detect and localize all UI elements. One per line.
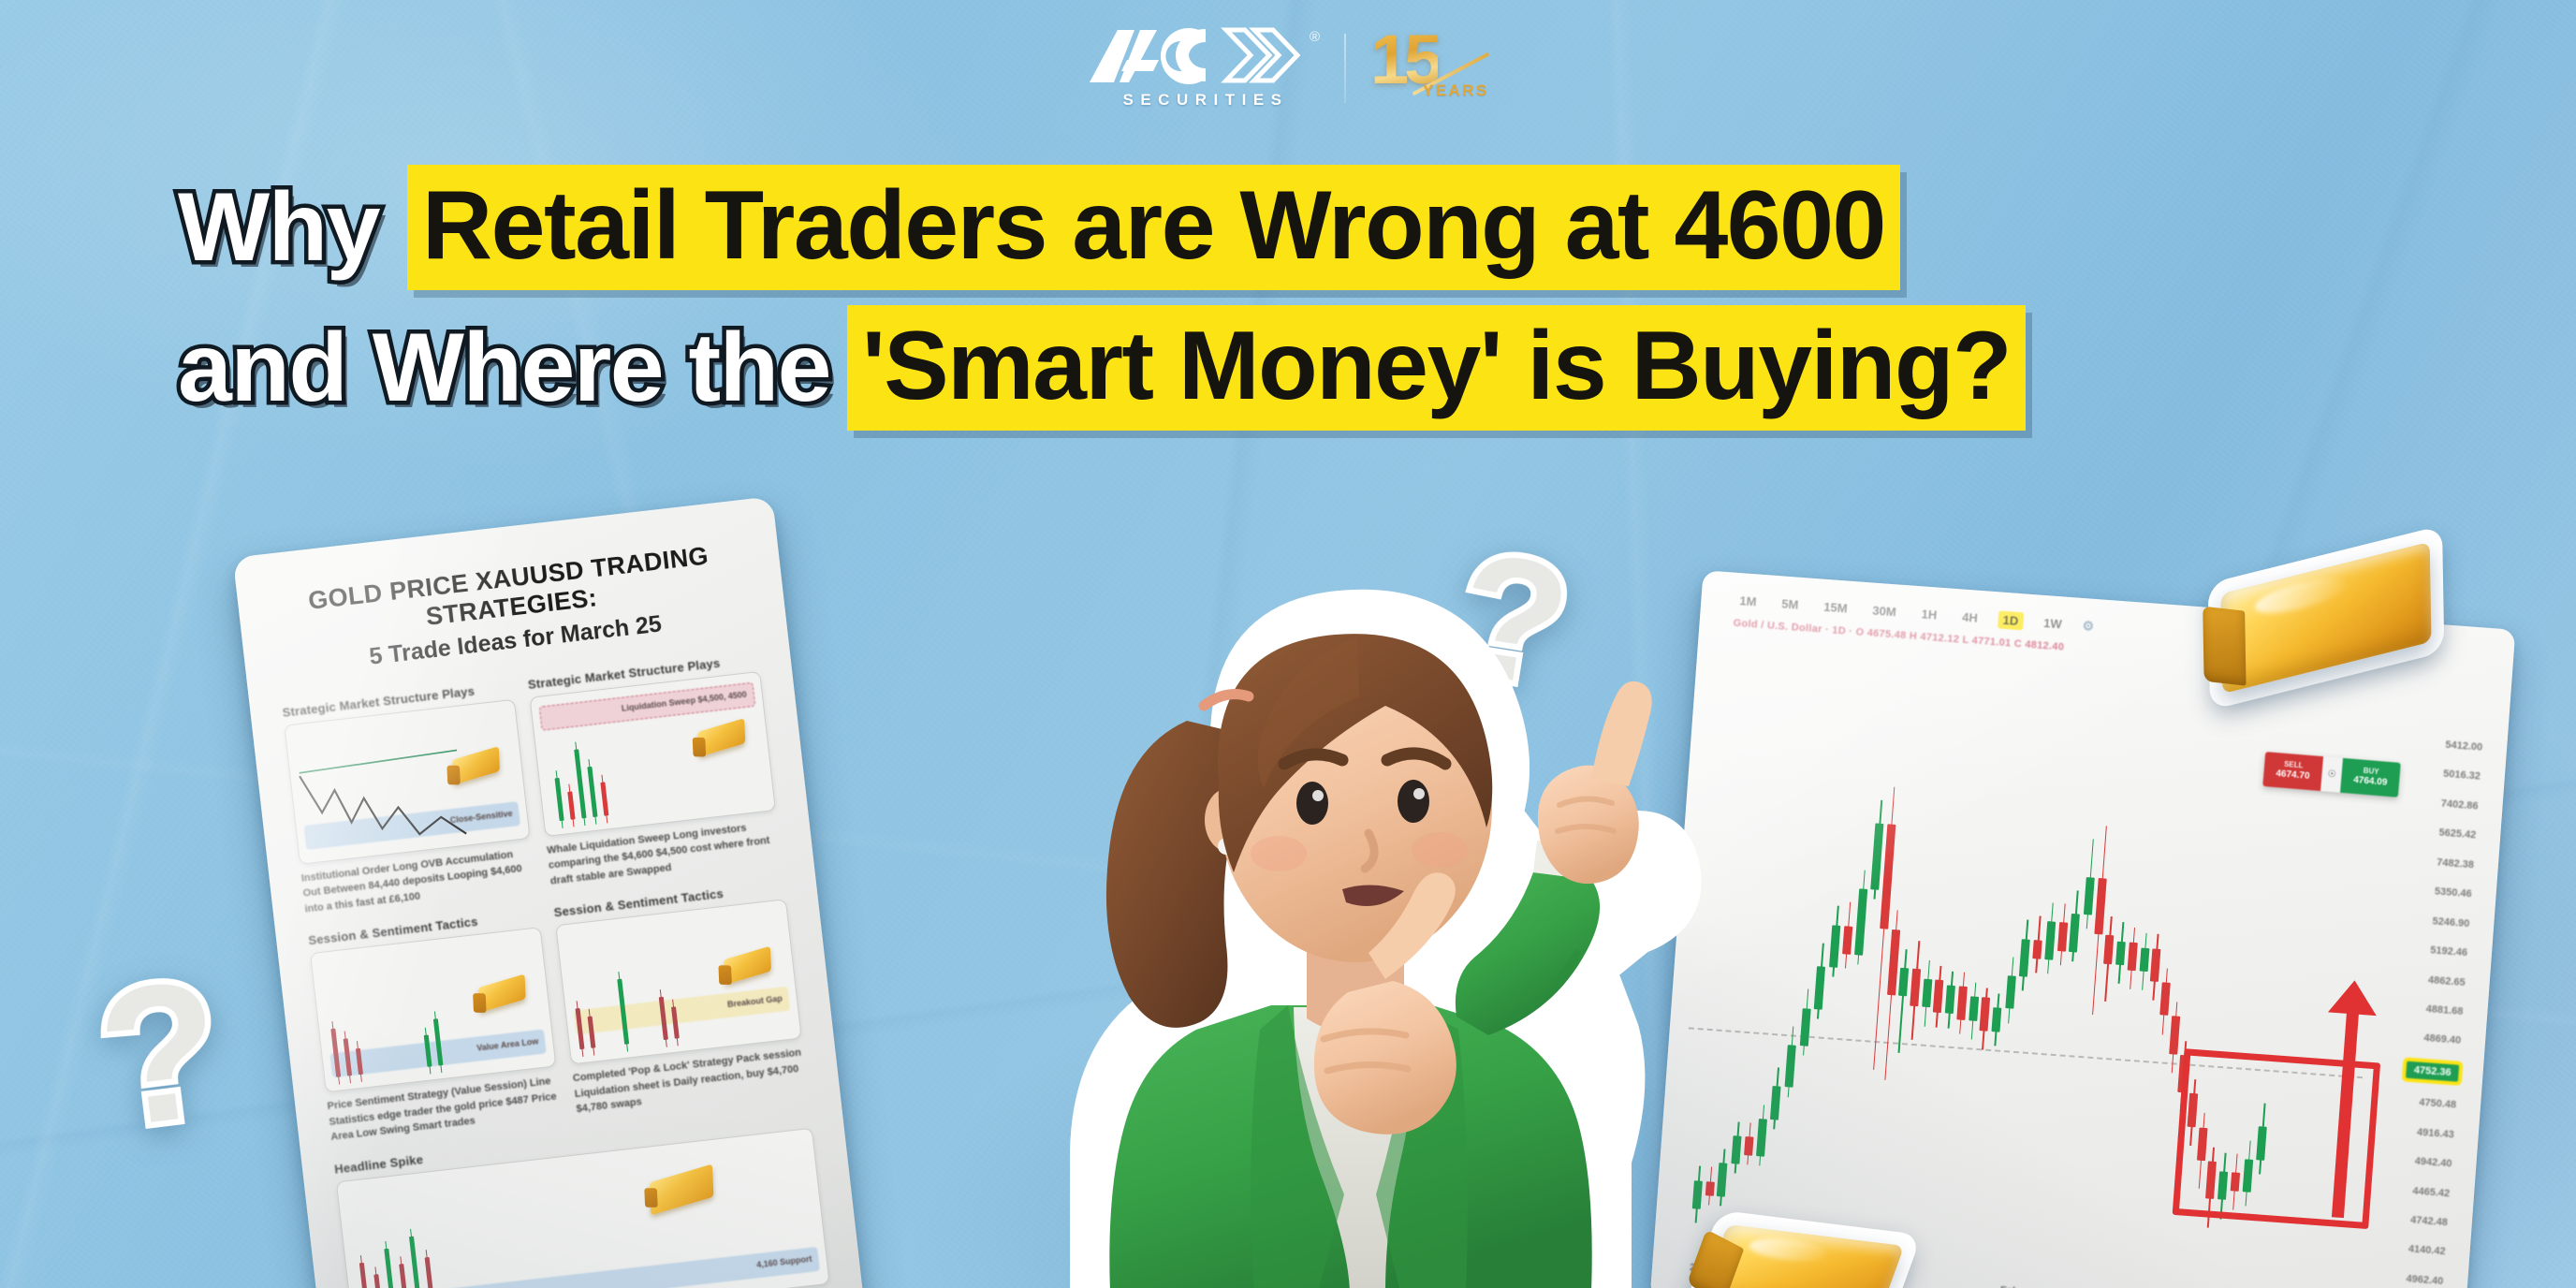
candle-body <box>2094 878 2106 935</box>
document-section: Strategic Market Structure Plays Liquida… <box>527 651 782 889</box>
candle-body <box>1933 980 1944 1014</box>
acy-letters-icon <box>1086 26 1307 84</box>
candlestick <box>2095 1252 2103 1253</box>
acy-logo: ® SECURITIES <box>1086 26 1320 110</box>
candlestick <box>2202 1260 2210 1261</box>
price-tick: 4962.40 <box>2406 1273 2444 1287</box>
candlestick <box>2154 1256 2162 1257</box>
section-band: Breakout Gap <box>574 987 790 1035</box>
candlestick <box>2083 1251 2091 1252</box>
pointing-index-finger <box>1591 681 1652 786</box>
headline-line2-plain: and Where the <box>167 318 842 417</box>
candle-body <box>1910 969 1921 1007</box>
price-tick: 4916.43 <box>2417 1126 2455 1140</box>
candle-body <box>2127 942 2137 971</box>
logo-divider <box>1344 34 1346 103</box>
candle-body <box>1842 926 1852 955</box>
gold-bar-face <box>2203 607 2246 686</box>
line-chart-icon <box>294 740 470 856</box>
candle-body <box>2032 940 2042 959</box>
gold-bar-icon <box>650 1164 714 1215</box>
sell-price-badge[interactable]: SELL 4674.70 <box>2262 752 2323 790</box>
gold-bar-bottom <box>1708 1223 1895 1288</box>
anniversary-badge: 15 YEARS <box>1370 29 1490 108</box>
candle-body <box>2069 914 2080 952</box>
candle-body <box>2057 922 2068 951</box>
section-chart: Liquidation Sweep $4,500, 4500 <box>530 670 776 836</box>
candlestick <box>2166 1257 2174 1258</box>
price-tick: 4465.42 <box>2412 1185 2451 1199</box>
gold-bar-shine <box>1746 1235 1831 1265</box>
candle-body <box>2005 975 2016 1009</box>
price-tick: 4881.68 <box>2425 1003 2464 1017</box>
price-tick: 7402.86 <box>2440 798 2479 812</box>
eye-right <box>1398 780 1429 823</box>
document-section: Session & Sentiment Tactics Breakout Gap… <box>553 880 808 1118</box>
section-band: Liquidation Sweep $4,500, 4500 <box>539 681 755 730</box>
candlestick <box>2142 1255 2150 1256</box>
price-tick: 4862.65 <box>2428 974 2466 988</box>
section-chart: 4,160 Support <box>336 1127 830 1288</box>
candlestick <box>1964 1243 1972 1244</box>
candle-body <box>1956 987 1968 1020</box>
candlestick <box>2225 1262 2233 1263</box>
candle-body <box>1731 1135 1741 1164</box>
eye-left <box>1296 782 1328 825</box>
timeframe-1w[interactable]: 1W <box>2038 614 2067 634</box>
candlestick <box>1976 1243 1984 1244</box>
buy-price-badge[interactable]: BUY 4764.09 <box>2340 758 2401 797</box>
candle-body <box>2019 939 2030 977</box>
candlestick <box>2071 1251 2079 1251</box>
price-tick: 7482.38 <box>2437 856 2475 871</box>
candle-body <box>1829 925 1840 968</box>
spread-indicator: ☉ <box>2320 756 2343 792</box>
registered-mark: ® <box>1310 30 1320 44</box>
price-tick: 5016.32 <box>2443 768 2481 783</box>
candlestick <box>2012 1246 2020 1247</box>
gold-bar-icon <box>478 974 526 1014</box>
timeframe-4h[interactable]: 4H <box>1956 607 1983 627</box>
candle-body <box>1854 888 1867 955</box>
candle-body <box>2044 921 2056 959</box>
current-price-label: 4752.36 <box>2406 1061 2459 1081</box>
candle-body <box>1770 1087 1781 1120</box>
candle-body <box>2115 941 2126 965</box>
price-tick: 4750.48 <box>2419 1097 2457 1111</box>
section-chart: Value Area Low <box>310 927 556 1092</box>
trading-chart-panel[interactable]: 1M 5M 15M 30M 1H 4H 1D 1W ⚙ Gold / U.S. … <box>1650 570 2516 1288</box>
candlestick <box>2024 1247 2032 1248</box>
timeframe-15m[interactable]: 15M <box>1819 597 1853 618</box>
headline-line2-highlight: 'Smart Money' is Buying? <box>847 305 2026 431</box>
candlestick <box>2213 1261 2221 1262</box>
gold-bar-icon <box>724 946 771 986</box>
candle-body <box>1784 1045 1795 1088</box>
candle-body <box>1887 929 1900 996</box>
candlestick <box>2130 1255 2139 1256</box>
price-tick: 5350.46 <box>2434 886 2472 900</box>
candlestick <box>1940 1241 1949 1242</box>
price-tick: 5625.42 <box>2438 827 2477 842</box>
candle-body <box>2159 982 2171 1016</box>
timeframe-1h[interactable]: 1H <box>1916 605 1942 624</box>
candlestick <box>2189 1259 2198 1260</box>
candlestick <box>1952 1242 1960 1243</box>
candle-body <box>1980 997 1991 1031</box>
headline-line-2: and Where the 'Smart Money' is Buying? <box>0 305 2576 431</box>
candle-body <box>1945 986 1955 1015</box>
candle-body <box>1991 1008 2001 1032</box>
candle-body <box>1898 968 1909 997</box>
price-tick: 4869.40 <box>2423 1032 2462 1046</box>
candle-body <box>2103 935 2114 964</box>
price-tick: 4942.40 <box>2414 1156 2452 1170</box>
eye-glint-left <box>1312 790 1324 801</box>
candle-body <box>1922 979 1932 1008</box>
candle-body <box>1756 1119 1767 1157</box>
price-tick: 5246.90 <box>2432 915 2470 929</box>
trading-strategies-document[interactable]: GOLD PRICE XAUUSD TRADING STRATEGIES: 5 … <box>233 496 872 1288</box>
time-tick: Feb <box>1999 1285 2018 1288</box>
candlestick <box>2237 1263 2246 1264</box>
candlestick <box>2035 1248 2043 1249</box>
candle-body <box>1799 1008 1810 1046</box>
candlestick <box>2118 1254 2127 1255</box>
timeframe-30m[interactable]: 30M <box>1867 601 1902 622</box>
blush-right <box>1412 832 1468 868</box>
section-chart: Close-Sensitive <box>284 698 530 864</box>
candlestick <box>2059 1250 2068 1251</box>
section-chart: Breakout Gap <box>555 899 801 1064</box>
candle-body <box>1870 824 1883 890</box>
candlestick <box>1999 1245 2008 1246</box>
headline-block: Why Retail Traders are Wrong at 4600 and… <box>0 165 2576 431</box>
acy-wordmark: ® <box>1086 26 1320 84</box>
price-tick: 4140.42 <box>2408 1244 2446 1258</box>
candle-body <box>1744 1136 1753 1156</box>
blush-left <box>1251 836 1307 871</box>
brand-logo-bar: ® SECURITIES 15 YEARS <box>1086 26 1490 110</box>
document-section: Session & Sentiment Tactics Value Area L… <box>308 907 563 1145</box>
brand-subtitle: SECURITIES <box>1122 91 1288 110</box>
timeframe-1m[interactable]: 1M <box>1734 592 1762 611</box>
headline-line-1: Why Retail Traders are Wrong at 4600 <box>0 165 2576 290</box>
candle-body <box>1814 966 1825 1009</box>
candlestick <box>1916 1239 1925 1240</box>
gear-icon[interactable]: ⚙ <box>2082 618 2095 635</box>
character-illustration-icon <box>945 505 1722 1288</box>
candle-body <box>2084 877 2095 915</box>
question-mark-icon-small: ? <box>90 950 231 1158</box>
candle-body <box>2150 948 2161 982</box>
candlestick <box>1928 1240 1937 1241</box>
gold-bar-icon <box>697 718 745 757</box>
price-tick: 5412.00 <box>2445 739 2483 754</box>
timeframe-5m[interactable]: 5M <box>1777 594 1804 614</box>
candlestick <box>2047 1249 2056 1250</box>
candlestick <box>2106 1253 2115 1254</box>
document-section: Strategic Market Structure Plays Close-S… <box>282 680 536 917</box>
headline-line1-highlight: Retail Traders are Wrong at 4600 <box>407 165 1900 290</box>
candlestick <box>2177 1258 2186 1259</box>
thinking-woman-character <box>945 505 1722 1288</box>
document-sections-grid: Strategic Market Structure Plays Close-S… <box>282 651 808 1146</box>
candlestick <box>2248 1264 2257 1265</box>
candle-body <box>1969 997 1979 1021</box>
candle-body <box>2139 947 2149 972</box>
eye-glint-right <box>1413 788 1425 799</box>
candlestick <box>1988 1244 1997 1245</box>
anniversary-label: YEARS <box>1423 81 1489 100</box>
price-tick: 4742.48 <box>2410 1214 2449 1228</box>
price-tick: 5192.46 <box>2430 944 2468 959</box>
timeframe-1d[interactable]: 1D <box>1998 610 2024 630</box>
candle-wick <box>1898 949 1908 1053</box>
candle-body <box>2169 1016 2180 1054</box>
headline-line1-plain: Why <box>167 178 390 277</box>
